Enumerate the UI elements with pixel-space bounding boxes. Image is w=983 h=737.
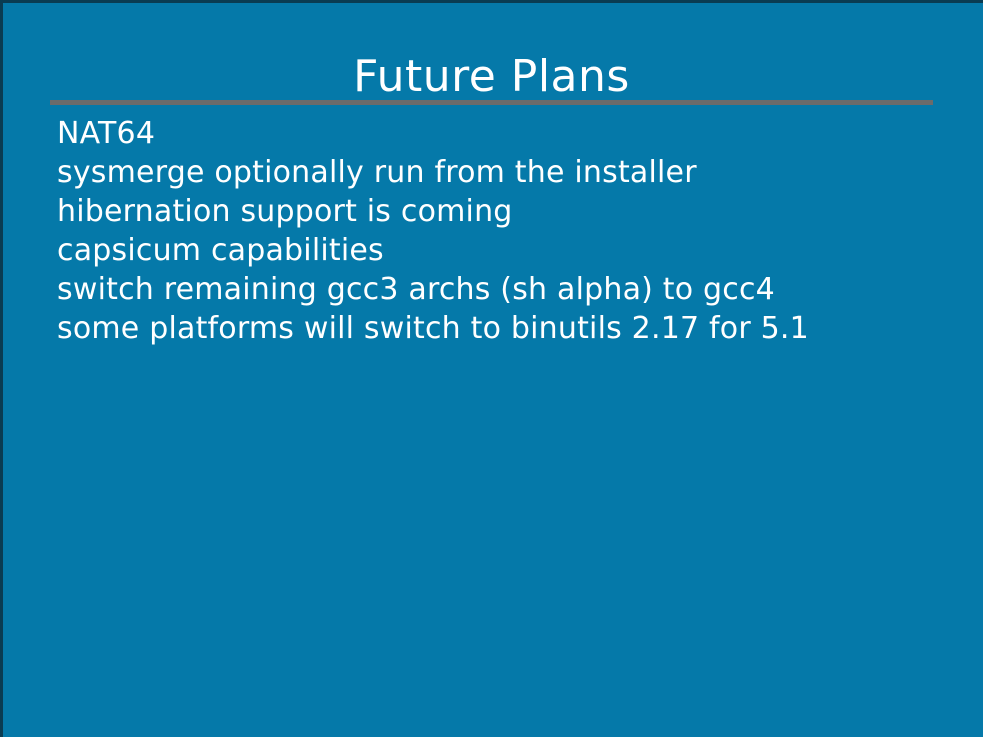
bullet-item: sysmerge optionally run from the install…: [57, 153, 957, 192]
bullet-item: NAT64: [57, 114, 957, 153]
slide-left-edge: [0, 0, 3, 737]
bullet-item: some platforms will switch to binutils 2…: [57, 309, 957, 348]
bullet-item: capsicum capabilities: [57, 231, 957, 270]
bullet-item: switch remaining gcc3 archs (sh alpha) t…: [57, 270, 957, 309]
bullet-item: hibernation support is coming: [57, 192, 957, 231]
slide-body: NAT64 sysmerge optionally run from the i…: [57, 114, 957, 348]
title-divider-rule: [50, 100, 933, 105]
slide-title: Future Plans: [0, 52, 983, 102]
slide-top-edge: [0, 0, 983, 3]
presentation-slide: Future Plans NAT64 sysmerge optionally r…: [0, 0, 983, 737]
